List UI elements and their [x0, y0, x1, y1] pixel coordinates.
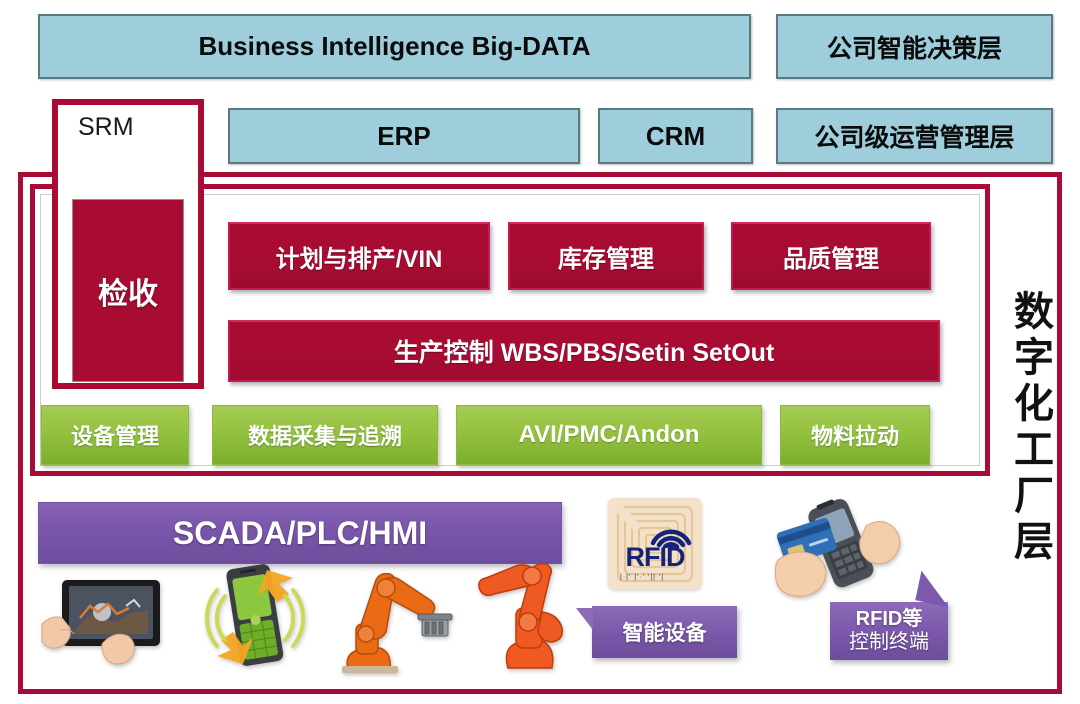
rfid-badge-microtext: |·|' |'·' '|| '| — [620, 574, 664, 581]
avi-pmc-andon-label: AVI/PMC/Andon — [519, 421, 700, 449]
production-control-label: 生产控制 WBS/PBS/Setin SetOut — [394, 333, 775, 369]
scada-plc-hmi-box: SCADA/PLC/HMI — [38, 502, 562, 564]
inventory-management-label: 库存管理 — [558, 239, 654, 274]
erp-box: ERP — [228, 108, 580, 164]
callout-tail-left-icon — [576, 608, 593, 630]
smart-device-callout: 智能设备 — [592, 606, 737, 658]
robot-arm-photo-2 — [470, 556, 590, 672]
robot-arm-photo-1 — [330, 562, 460, 674]
crm-box: CRM — [598, 108, 753, 164]
rfid-terminal-callout: RFID等 控制终端 — [830, 602, 948, 660]
equipment-management-label: 设备管理 — [71, 419, 159, 451]
bi-bigdata-box: Business Intelligence Big-DATA — [38, 14, 751, 79]
tablet-in-hands-photo — [40, 572, 180, 672]
decision-layer-side-box: 公司智能决策层 — [776, 14, 1053, 79]
rfid-badge-icon: RFID |·|' |'·' '|| '| — [608, 498, 702, 590]
data-collection-traceability-box: 数据采集与追溯 — [212, 405, 438, 465]
operation-layer-side-box: 公司级运营管理层 — [776, 108, 1053, 164]
data-collection-traceability-label: 数据采集与追溯 — [248, 419, 402, 451]
erp-label: ERP — [377, 121, 430, 152]
srm-label: SRM — [78, 113, 134, 142]
smart-device-callout-label: 智能设备 — [623, 617, 707, 647]
operation-layer-side-label: 公司级运营管理层 — [814, 118, 1014, 154]
scada-plc-hmi-label: SCADA/PLC/HMI — [173, 515, 427, 552]
callout-tail-upright-icon — [915, 571, 954, 607]
avi-pmc-andon-box: AVI/PMC/Andon — [456, 405, 762, 465]
digital-factory-layer-label: 数字化工厂层 — [998, 290, 1050, 566]
handheld-scanner-photo — [770, 498, 915, 608]
inventory-management-box: 库存管理 — [508, 222, 704, 290]
acceptance-inspection-label: 检收 — [98, 269, 158, 313]
rugged-phone-photo — [205, 560, 305, 672]
quality-management-label: 品质管理 — [783, 239, 879, 274]
planning-scheduling-vin-label: 计划与排产/VIN — [276, 239, 443, 274]
rfid-badge-text: RFID — [608, 542, 702, 573]
quality-management-box: 品质管理 — [731, 222, 931, 290]
crm-label: CRM — [646, 121, 705, 152]
rfid-terminal-callout-line1: RFID等 — [856, 608, 923, 631]
material-pull-label: 物料拉动 — [811, 419, 899, 451]
planning-scheduling-vin-box: 计划与排产/VIN — [228, 222, 490, 290]
bi-bigdata-label: Business Intelligence Big-DATA — [199, 31, 591, 62]
diagram-canvas: Business Intelligence Big-DATA 公司智能决策层 E… — [0, 0, 1080, 704]
acceptance-inspection-box: 检收 — [72, 199, 184, 382]
equipment-management-box: 设备管理 — [41, 405, 189, 465]
production-control-box: 生产控制 WBS/PBS/Setin SetOut — [228, 320, 940, 382]
material-pull-box: 物料拉动 — [780, 405, 930, 465]
decision-layer-side-label: 公司智能决策层 — [827, 29, 1002, 65]
rfid-terminal-callout-line2: 控制终端 — [849, 631, 929, 654]
